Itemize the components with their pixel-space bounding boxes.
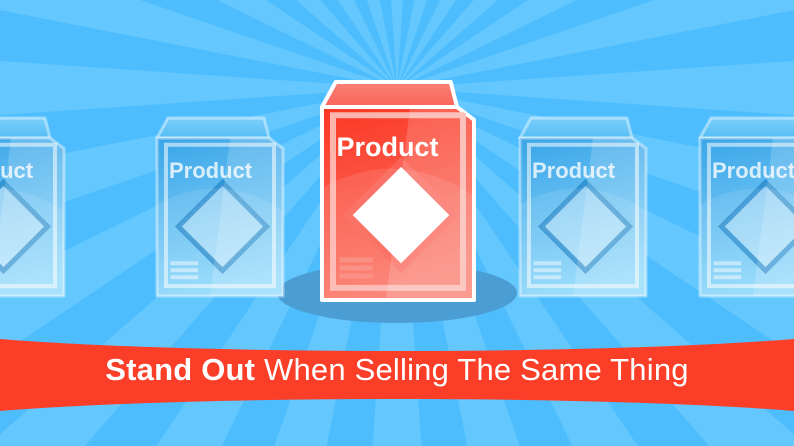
- product-box-graphic: [520, 118, 646, 296]
- product-box-graphic: [0, 118, 64, 296]
- product-box-graphic: [322, 82, 474, 300]
- product-box-label: Product: [532, 160, 615, 182]
- product-box-background: Product: [520, 118, 646, 296]
- product-box-label: Product: [336, 134, 438, 161]
- box-gloss-arc: [157, 188, 283, 296]
- headline-bold-part: Stand Out: [105, 352, 255, 387]
- box-lid: [520, 118, 632, 138]
- box-gloss-arc: [700, 188, 794, 296]
- product-box-graphic: [700, 118, 794, 296]
- headline-text: Stand Out When Selling The Same Thing: [0, 352, 794, 388]
- box-lid: [700, 118, 794, 138]
- box-lid: [0, 118, 50, 138]
- product-box-label: Product: [169, 160, 252, 182]
- product-box-background: Product: [0, 118, 64, 296]
- product-box-label: Product: [0, 160, 33, 182]
- poster-canvas: ProductProductProductProductProduct Stan…: [0, 0, 794, 446]
- box-lid: [322, 82, 457, 107]
- box-lid: [157, 118, 269, 138]
- box-gloss-arc: [520, 188, 646, 296]
- product-box-graphic: [157, 118, 283, 296]
- product-box-label: Product: [712, 160, 794, 182]
- product-box-background: Product: [157, 118, 283, 296]
- box-gloss-arc: [322, 169, 474, 300]
- product-box-background: Product: [700, 118, 794, 296]
- product-box-hero: Product: [322, 82, 474, 300]
- headline-regular-part: When Selling The Same Thing: [255, 352, 689, 387]
